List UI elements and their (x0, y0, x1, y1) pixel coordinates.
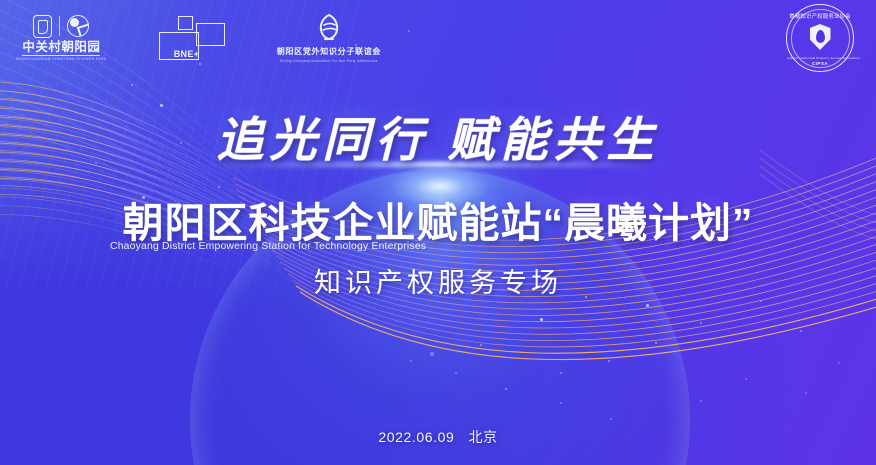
bne-small-square-icon (178, 16, 193, 30)
event-poster: 中关村朝阳园 ZHONGGUANCUN CHAOYANG SCIENCE PAR… (0, 0, 876, 465)
partner-logos-group: 中关村朝阳园 ZHONGGUANCUN CHAOYANG SCIENCE PAR… (16, 13, 381, 63)
sun-flare-decoration (290, 112, 590, 232)
zgc-badge-icon (33, 15, 52, 38)
association-mark-icon (314, 13, 344, 43)
shield-icon (810, 24, 831, 50)
zgc-logo-cn-text: 中关村朝阳园 (22, 41, 100, 56)
badge-en-text: Capital Intellectual Property Service As… (787, 56, 853, 60)
poster-footer-meta: 2022.06.09北京 (0, 427, 876, 447)
zgc-divider (59, 16, 60, 36)
poster-headline: 追光同行 赋能共生 (0, 116, 876, 163)
badge-cn-text: 首都知识产权服务业协会 (787, 12, 853, 20)
logo-bar: 中关村朝阳园 ZHONGGUANCUN CHAOYANG SCIENCE PAR… (0, 0, 876, 76)
zhongguancun-chaoyang-park-logo: 中关村朝阳园 ZHONGGUANCUN CHAOYANG SCIENCE PAR… (16, 15, 107, 62)
zgc-circle-icon (67, 15, 89, 37)
ip-service-association-badge: 首都知识产权服务业协会 Capital Intellectual Propert… (786, 4, 854, 72)
association-logo: 朝阳区党外知识分子联谊会 Beijing Chaoyang Associatio… (277, 13, 381, 63)
poster-subtitle-en: Chaoyang District Empowering Station for… (110, 241, 426, 252)
event-city: 北京 (468, 429, 497, 445)
poster-subtitle-cn: 朝阳区科技企业赋能站“晨曦计划” (0, 203, 876, 244)
planet-glow-decoration (180, 168, 700, 465)
bne-large-square-icon (196, 23, 225, 46)
poster-session-title: 知识产权服务专场 (0, 270, 876, 297)
association-logo-en-text: Beijing Chaoyang Association For Non-Par… (280, 59, 377, 63)
sun-streak-decoration (208, 162, 668, 167)
event-date: 2022.06.09 (378, 429, 454, 445)
bne-wordmark: BNE+ (172, 50, 201, 59)
badge-abbreviation: CIPSA (787, 61, 853, 66)
association-logo-cn-text: 朝阳区党外知识分子联谊会 (277, 46, 381, 57)
zhongguancun-mark-icon (33, 15, 89, 38)
zgc-logo-en-text: ZHONGGUANCUN CHAOYANG SCIENCE PARK (16, 57, 107, 61)
planet-body-decoration (190, 170, 690, 465)
bne-plus-logo: BNE+ (159, 16, 225, 60)
